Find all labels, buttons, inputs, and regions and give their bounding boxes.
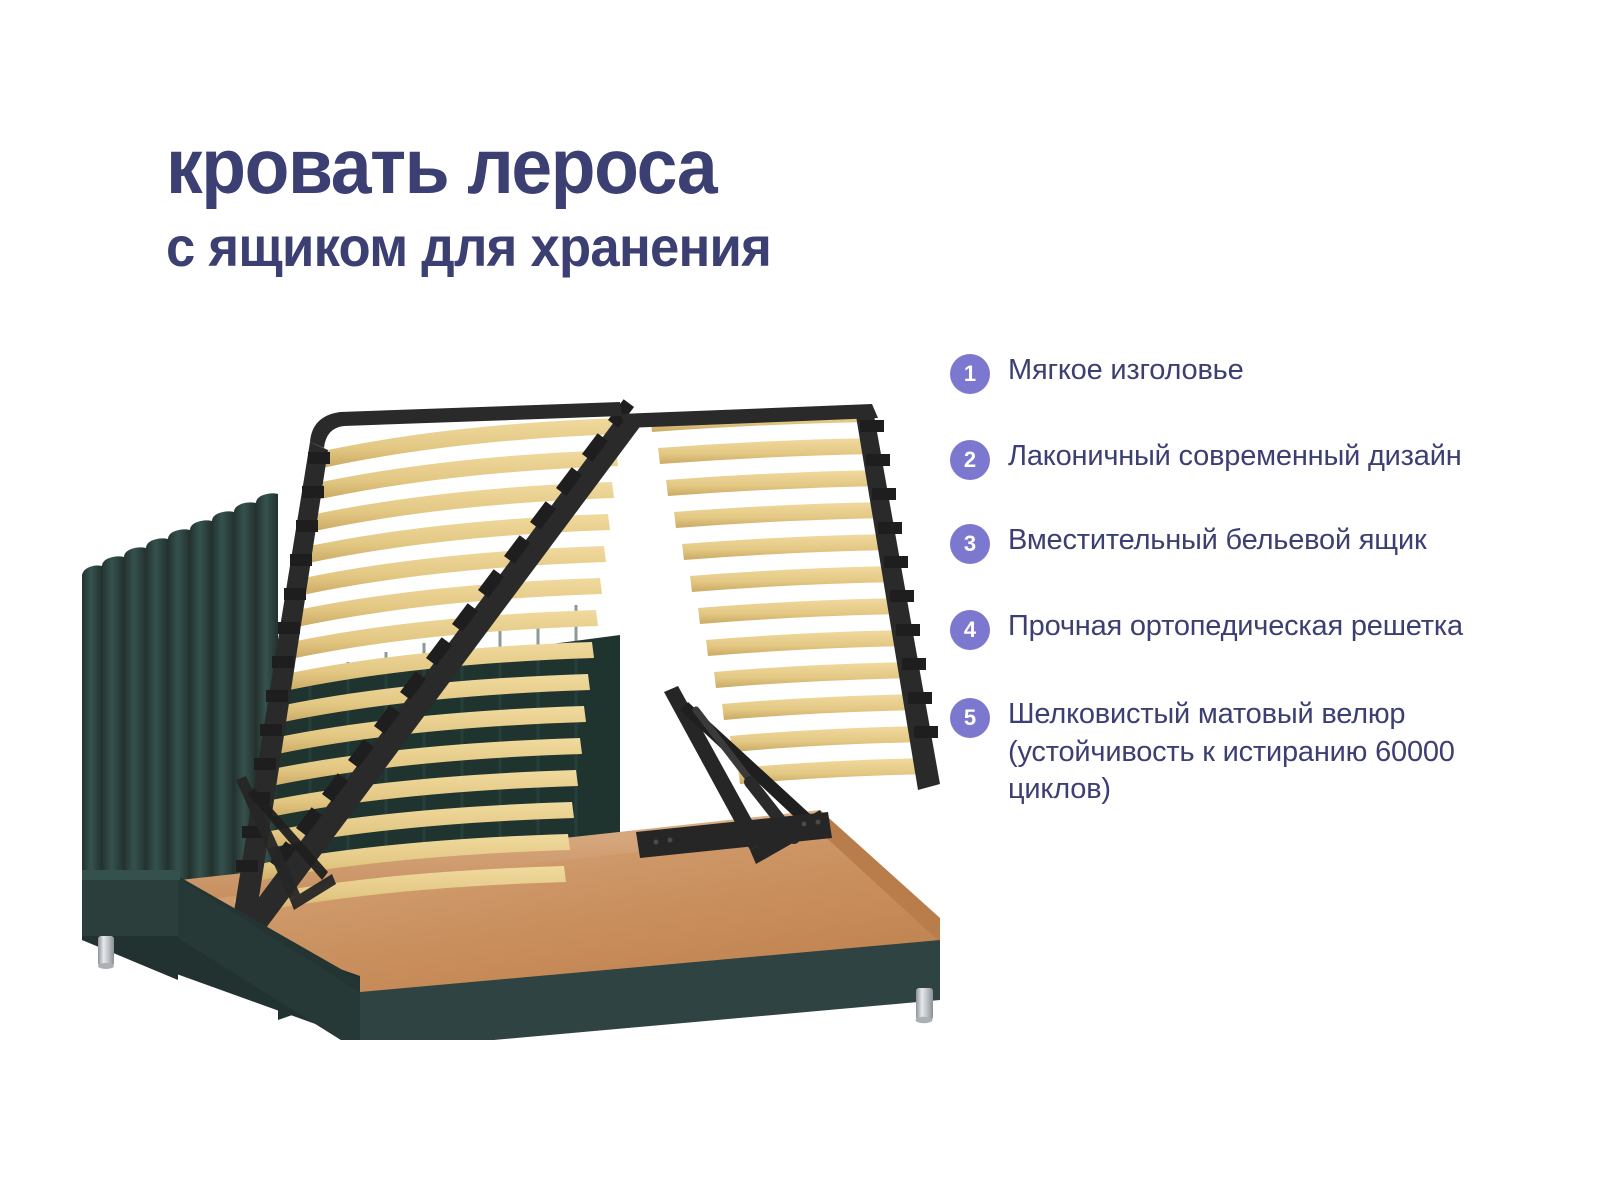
feature-item-3: 3 Вместительный бельевой ящик — [950, 522, 1490, 564]
infographic-canvas: кровать лероса с ящиком для хранения — [0, 0, 1600, 1200]
feature-label-5: Шелковистый матовый велюр (устойчивость … — [1008, 696, 1490, 809]
feature-badge-3: 3 — [950, 524, 990, 564]
feature-list: 1 Мягкое изголовье 2 Лаконичный современ… — [950, 352, 1490, 843]
feature-badge-5: 5 — [950, 698, 990, 738]
feature-badge-2: 2 — [950, 440, 990, 480]
feature-item-2: 2 Лаконичный современный дизайн — [950, 438, 1490, 480]
product-image — [60, 380, 940, 1040]
feature-label-3: Вместительный бельевой ящик — [1008, 522, 1426, 560]
page-subtitle: с ящиком для хранения — [166, 218, 937, 277]
feature-item-5: 5 Шелковистый матовый велюр (устойчивост… — [950, 696, 1490, 809]
feature-badge-1: 1 — [950, 354, 990, 394]
page-title: кровать лероса — [166, 128, 937, 204]
feature-badge-4: 4 — [950, 610, 990, 650]
feature-label-2: Лаконичный современный дизайн — [1008, 438, 1462, 476]
heading-block: кровать лероса с ящиком для хранения — [166, 128, 986, 277]
feature-label-1: Мягкое изголовье — [1008, 352, 1244, 390]
feature-item-1: 1 Мягкое изголовье — [950, 352, 1490, 394]
feature-label-4: Прочная ортопедическая решетка — [1008, 608, 1463, 646]
feature-item-4: 4 Прочная ортопедическая решетка — [950, 608, 1490, 650]
bed-illustration — [60, 380, 940, 1040]
